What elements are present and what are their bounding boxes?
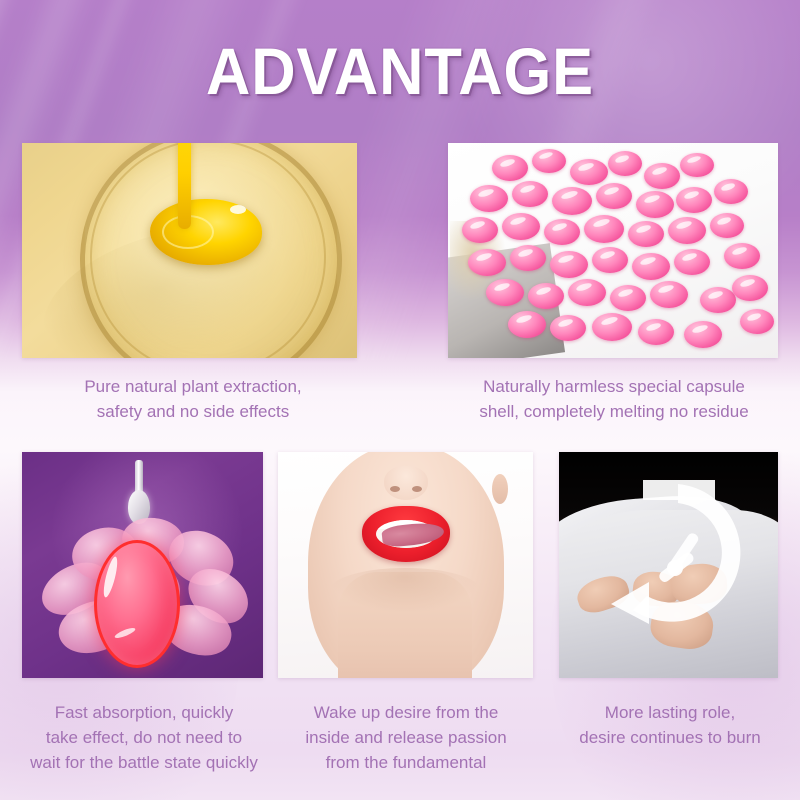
nostril-right xyxy=(412,486,422,492)
clock-hands xyxy=(647,524,717,594)
ear xyxy=(492,474,508,504)
caption-line: take effect, do not need to xyxy=(18,725,270,750)
panel-oil-image xyxy=(22,143,357,358)
caption-panel-capsules: Naturally harmless special capsule shell… xyxy=(448,374,780,424)
chin-shadow xyxy=(330,568,480,612)
panel-capsules-image xyxy=(448,143,778,358)
caption-line: inside and release passion xyxy=(282,725,530,750)
caption-line: from the fundamental xyxy=(282,750,530,775)
caption-line: safety and no side effects xyxy=(28,399,358,424)
caption-line: Naturally harmless special capsule xyxy=(448,374,780,399)
nose xyxy=(384,466,428,500)
caption-line: More lasting role, xyxy=(552,700,788,725)
caption-panel-oil: Pure natural plant extraction, safety an… xyxy=(28,374,358,424)
caption-line: wait for the battle state quickly xyxy=(18,750,270,775)
page-title: ADVANTAGE xyxy=(28,38,772,104)
oil-stream xyxy=(178,143,191,229)
clock-pivot xyxy=(667,560,683,576)
oil-highlight xyxy=(230,205,246,214)
caption-line: Fast absorption, quickly xyxy=(18,700,270,725)
caption-panel-lips: Wake up desire from the inside and relea… xyxy=(282,700,530,775)
caption-line: desire continues to burn xyxy=(552,725,788,750)
caption-panel-clock-bed: More lasting role, desire continues to b… xyxy=(552,700,788,750)
caption-line: Wake up desire from the xyxy=(282,700,530,725)
panel-rose-capsule-image xyxy=(22,452,263,678)
caption-line: Pure natural plant extraction, xyxy=(28,374,358,399)
capsule-hero xyxy=(94,540,180,668)
panel-clock-bed-image xyxy=(559,452,778,678)
caption-line: shell, completely melting no residue xyxy=(448,399,780,424)
clock-arrow-icon xyxy=(593,466,753,656)
capsule-pile xyxy=(448,143,778,358)
caption-panel-rose-capsule: Fast absorption, quickly take effect, do… xyxy=(18,700,270,775)
panel-lips-image xyxy=(278,452,533,678)
advantage-infographic: ADVANTAGE xyxy=(0,0,800,800)
nostril-left xyxy=(390,486,400,492)
